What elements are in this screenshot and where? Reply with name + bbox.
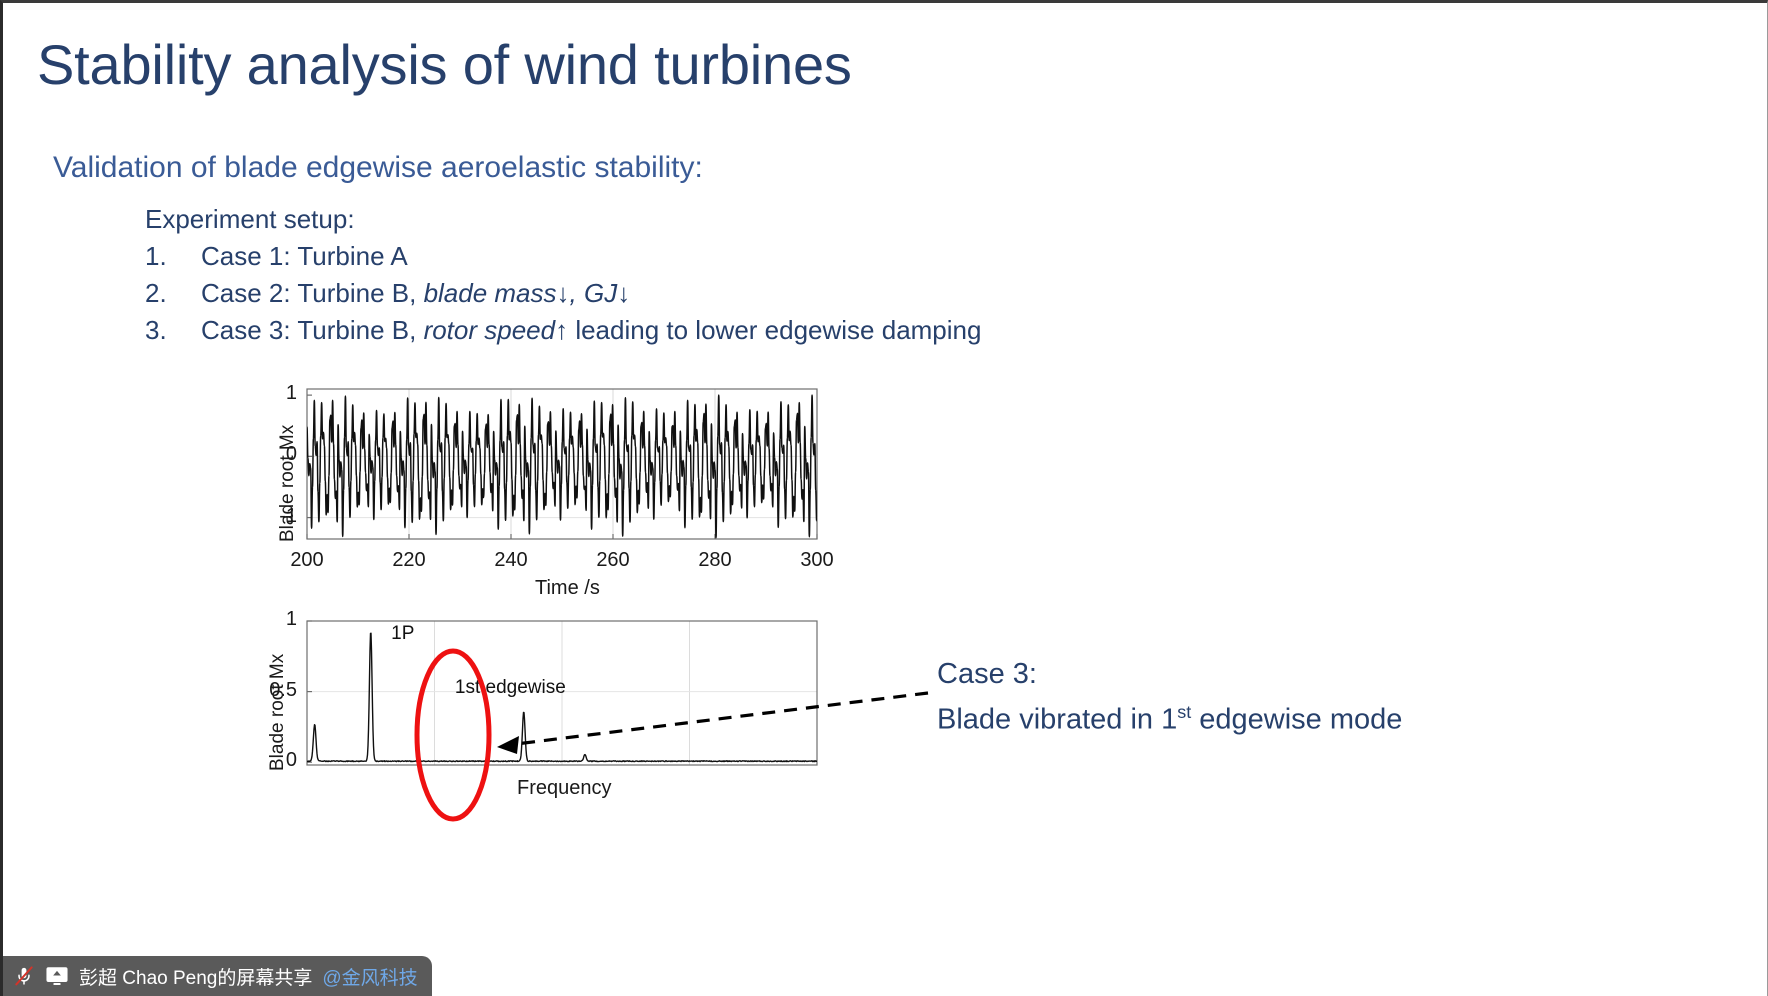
experiment-setup-block: Experiment setup: 1. Case 1: Turbine A 2… [145, 201, 981, 349]
timeseries-xtick: 300 [800, 549, 833, 572]
screen-share-icon[interactable] [45, 965, 69, 987]
list-item: 2. Case 2: Turbine B, blade mass↓, GJ↓ [145, 275, 981, 312]
timeseries-xtick: 200 [290, 549, 323, 572]
list-item-text: Case 2: Turbine B, blade mass↓, GJ↓ [201, 275, 630, 312]
case3-callout-line2: Blade vibrated in 1st edgewise mode [937, 693, 1402, 739]
spectrum-x-axis-label: Frequency [517, 777, 612, 800]
list-item-text: Case 1: Turbine A [201, 238, 408, 275]
microphone-muted-icon[interactable] [13, 965, 35, 987]
timeseries-plot [255, 381, 855, 561]
list-item: 3. Case 3: Turbine B, rotor speed↑ leadi… [145, 312, 981, 349]
list-item-text: Case 3: Turbine B, rotor speed↑ leading … [201, 312, 981, 349]
list-item-number: 1. [145, 238, 201, 275]
case3-callout: Case 3: Blade vibrated in 1st edgewise m… [937, 655, 1402, 739]
page-title: Stability analysis of wind turbines [37, 36, 852, 95]
list-item: 1. Case 1: Turbine A [145, 238, 981, 275]
case3-callout-line1: Case 3: [937, 655, 1402, 693]
timeseries-x-axis-label: Time /s [535, 577, 600, 600]
presentation-slide: Stability analysis of wind turbines Vali… [0, 0, 1768, 996]
share-owner-label: 彭超 Chao Peng的屏幕共享 [79, 963, 312, 990]
share-org-label: @金风科技 [322, 963, 417, 990]
timeseries-xtick: 240 [494, 549, 527, 572]
timeseries-xtick: 220 [392, 549, 425, 572]
section-subtitle: Validation of blade edgewise aeroelastic… [53, 151, 703, 185]
spectrum-peak-label-1p: 1P [391, 623, 414, 645]
case-list: 1. Case 1: Turbine A 2. Case 2: Turbine … [145, 238, 981, 349]
figure-group: Blade root Mx 1 0 -1 200 220 240 260 280… [255, 381, 855, 831]
list-item-number: 2. [145, 275, 201, 312]
spectrum-peak-label-edgewise: 1st edgewise [455, 677, 566, 699]
screen-share-status-bar[interactable]: 彭超 Chao Peng的屏幕共享 @金风科技 [3, 956, 432, 996]
spectrum-plot [255, 613, 855, 793]
timeseries-xtick: 280 [698, 549, 731, 572]
list-item-number: 3. [145, 312, 201, 349]
experiment-setup-label: Experiment setup: [145, 201, 981, 238]
timeseries-xtick: 260 [596, 549, 629, 572]
